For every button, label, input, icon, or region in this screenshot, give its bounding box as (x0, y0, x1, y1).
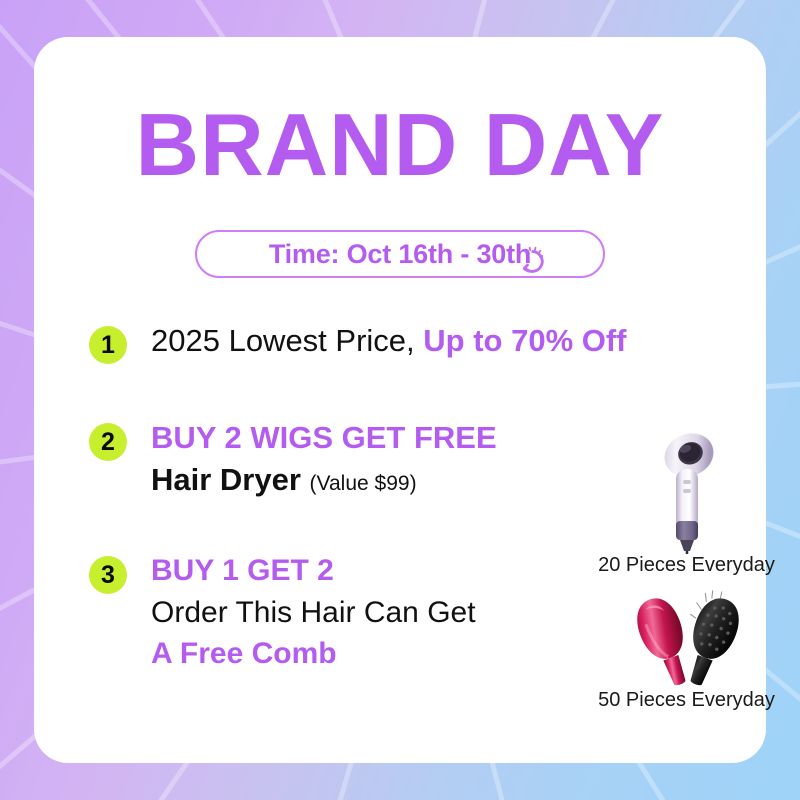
product-caption: 20 Pieces Everyday (579, 554, 794, 577)
offer-3-headline: BUY 1 GET 2 (151, 554, 476, 588)
offer-2-gift-name: Hair Dryer (151, 462, 301, 497)
time-badge: Time: Oct 16th - 30th (195, 230, 605, 278)
offer-2-subline: Hair Dryer (Value $99) (151, 463, 497, 498)
offer-1-text: 2025 Lowest Price, Up to 70% Off (151, 324, 627, 359)
offer-1-black-text: 2025 Lowest Price, (151, 323, 415, 358)
hair-brushes-image (579, 589, 794, 689)
offer-item-2: 2 BUY 2 WIGS GET FREE Hair Dryer (Value … (89, 421, 497, 497)
page-title: BRAND DAY (34, 101, 766, 189)
offer-number-badge: 1 (89, 326, 127, 364)
offer-1-purple-text: Up to 70% Off (423, 323, 626, 358)
product-hair-dryer: 20 Pieces Everyday (579, 429, 794, 577)
offer-item-3: 3 BUY 1 GET 2 Order This Hair Can Get A … (89, 554, 476, 671)
content-card: BRAND DAY Time: Oct 16th - 30th 1 (34, 37, 766, 763)
hair-dryer-image (579, 429, 794, 554)
product-caption: 50 Pieces Everyday (579, 689, 794, 712)
offer-number-badge: 3 (89, 556, 127, 594)
promo-banner: BRAND DAY Time: Oct 16th - 30th 1 (0, 0, 800, 800)
offer-3-gift: A Free Comb (151, 637, 476, 671)
offer-2-gift-value: (Value $99) (310, 472, 417, 495)
offer-item-1: 1 2025 Lowest Price, Up to 70% Off (89, 324, 627, 359)
offer-2-headline: BUY 2 WIGS GET FREE (151, 421, 497, 456)
time-badge-label: Time: Oct 16th - 30th (269, 239, 531, 270)
offer-3-subline: Order This Hair Can Get (151, 596, 476, 630)
product-hair-brushes: 50 Pieces Everyday (579, 589, 794, 712)
stopwatch-icon (513, 239, 549, 275)
offer-number-badge: 2 (89, 423, 127, 461)
